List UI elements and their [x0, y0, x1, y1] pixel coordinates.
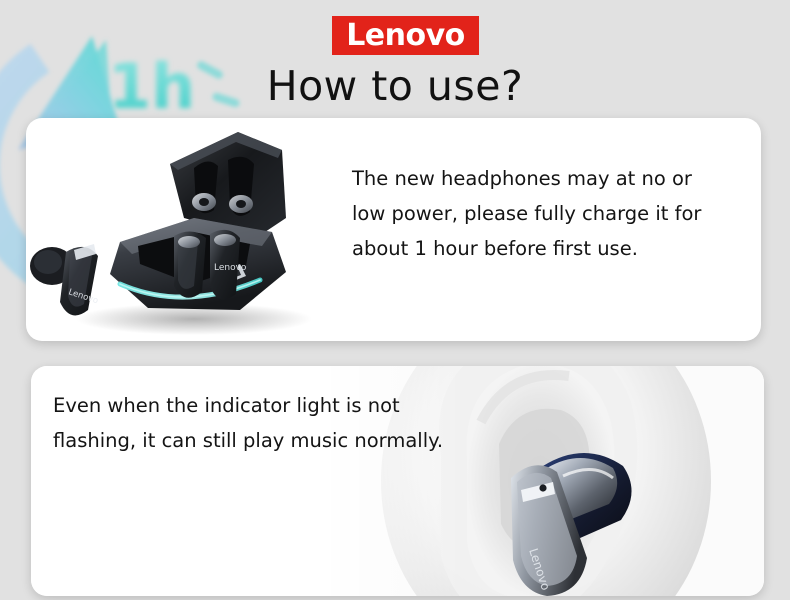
- card-charging-instruction: Lenovo Lenovo The new headphones may at …: [26, 118, 761, 341]
- lenovo-logo: Lenovo: [332, 16, 479, 55]
- indicator-line-1: Even when the indicator light is not: [53, 388, 443, 423]
- indicator-instruction-text: Even when the indicator light is not fla…: [53, 388, 443, 458]
- lenovo-earbuds-charging-case-photo: Lenovo Lenovo: [26, 118, 342, 341]
- charging-instruction-text: The new headphones may at no or low powe…: [352, 161, 701, 266]
- charging-line-2: low power, please fully charge it for: [352, 196, 701, 231]
- indicator-line-2: flashing, it can still play music normal…: [53, 423, 443, 458]
- lenovo-logo-text: Lenovo: [346, 21, 465, 51]
- card-indicator-instruction: Lenovo Even when the indicator light is …: [31, 366, 764, 596]
- loose-earbud: Lenovo: [30, 244, 99, 315]
- charging-line-3: about 1 hour before first use.: [352, 231, 701, 266]
- page-title: How to use?: [0, 62, 790, 110]
- charging-line-1: The new headphones may at no or: [352, 161, 701, 196]
- instruction-page: 1h Lenovo How to use?: [0, 0, 790, 600]
- svg-text:Lenovo: Lenovo: [214, 263, 247, 273]
